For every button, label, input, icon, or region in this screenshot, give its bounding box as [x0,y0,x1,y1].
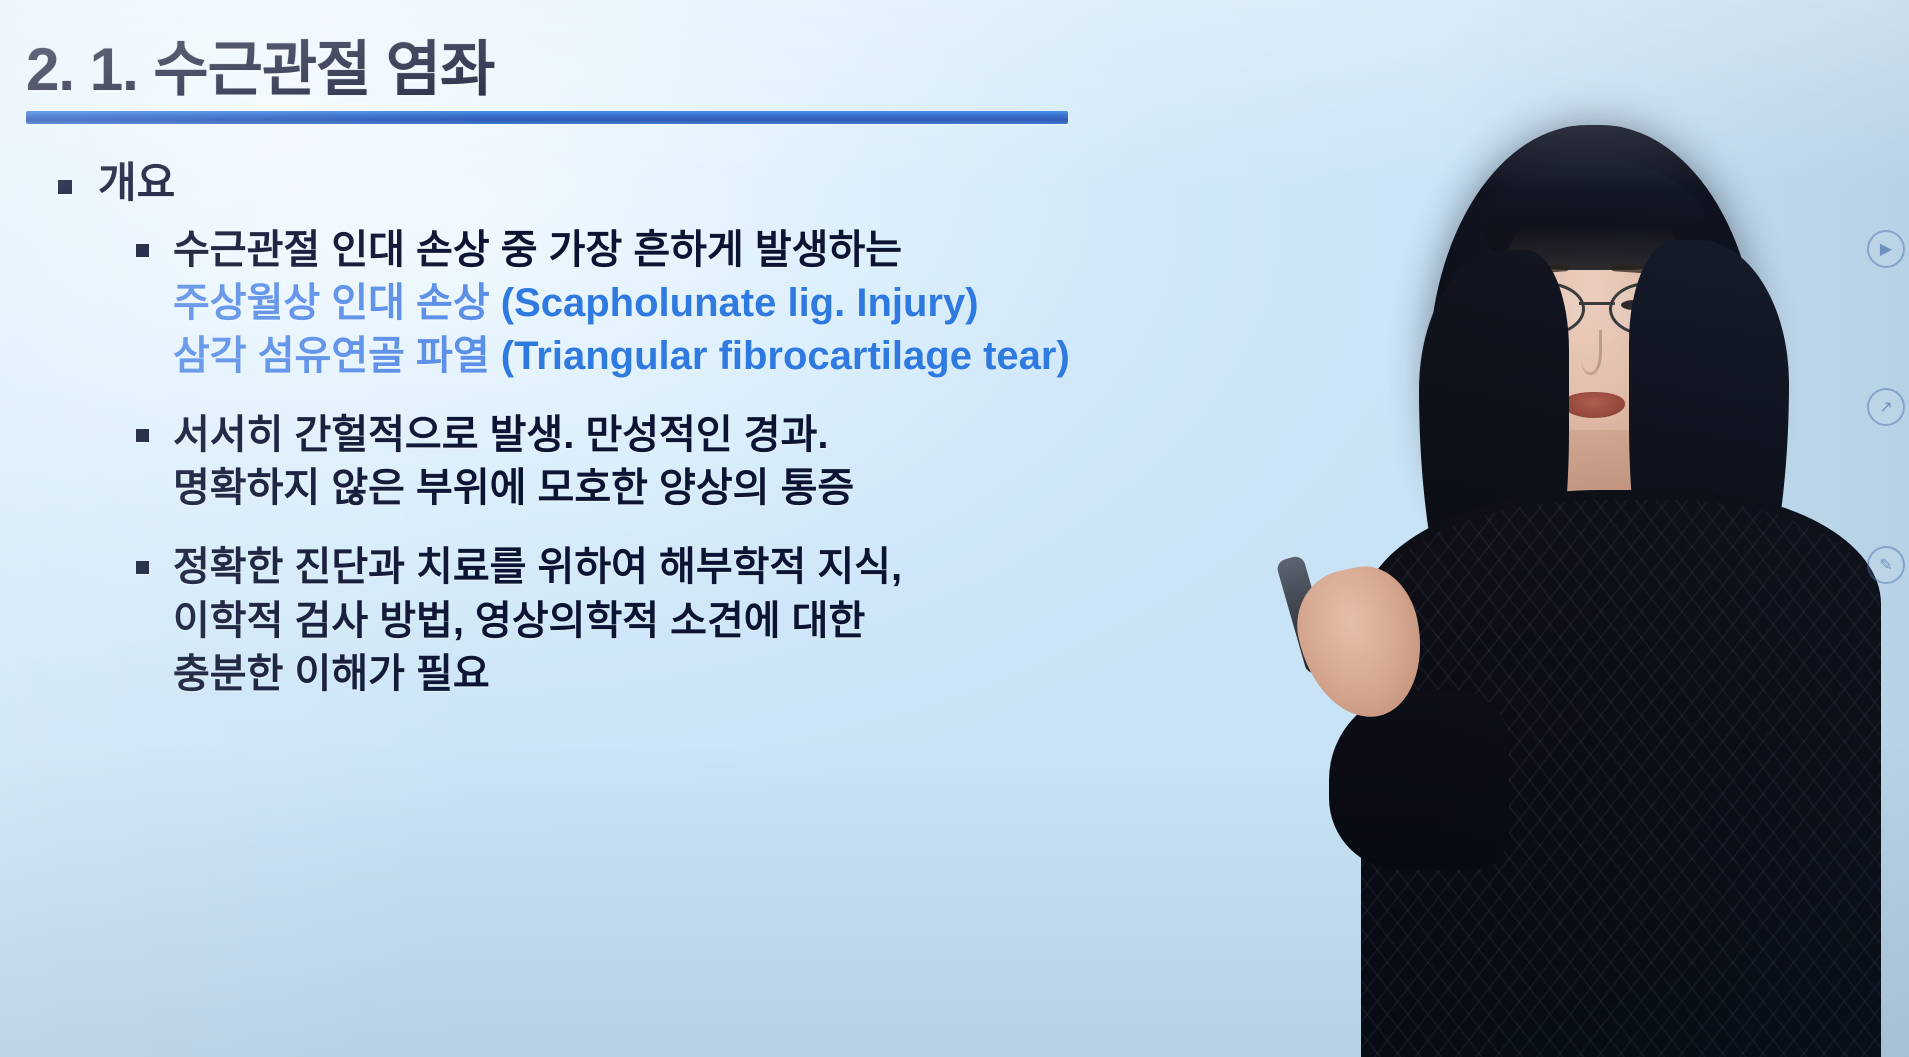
level2-bullet-text: 서서히 간헐적으로 발생. 만성적인 경과. 명확하지 않은 부위에 모호한 양… [173,409,854,515]
square-bullet-icon [58,180,72,194]
level2-bullet-text: 정확한 진단과 치료를 위하여 해부학적 지식, 이학적 검사 방법, 영상의학… [173,541,902,701]
text-segment-english-term: (Triangular fibrocartilage tear) [501,334,1070,378]
play-icon[interactable]: ▶ [1867,230,1905,268]
text-segment-korean-highlight: 주상월상 인대 손상 [173,281,501,325]
square-bullet-icon [136,244,149,257]
overlay-toolbar[interactable]: ▶ ↗ ✎ [1865,230,1907,584]
text-segment-korean-highlight: 삼각 섬유연골 파열 [173,334,501,378]
list-item: 수근관절 인대 손상 중 가장 흔하게 발생하는 주상월상 인대 손상 (Sca… [136,224,1286,384]
bullet-line: 주상월상 인대 손상 (Scapholunate lig. Injury) [173,277,1070,330]
level2-bullet-text: 수근관절 인대 손상 중 가장 흔하게 발생하는 주상월상 인대 손상 (Sca… [173,224,1070,384]
text-segment-english-term: (Scapholunate lig. Injury) [501,281,979,325]
square-bullet-icon [136,561,149,574]
bullet-line: 수근관절 인대 손상 중 가장 흔하게 발생하는 [173,224,1070,277]
text-segment: 수근관절 인대 손상 중 가장 흔하게 발생하는 [173,228,902,272]
text-segment: 이학적 검사 방법, 영상의학적 소견에 대한 [173,599,865,643]
pen-icon[interactable]: ✎ [1867,546,1905,584]
level1-bullet-label: 개요 [98,158,175,208]
text-segment: 서서히 간헐적으로 발생. 만성적인 경과. [173,413,828,457]
bullet-line: 정확한 진단과 치료를 위하여 해부학적 지식, [173,541,902,594]
title-underline-rule [26,111,1068,124]
list-item: 정확한 진단과 치료를 위하여 해부학적 지식, 이학적 검사 방법, 영상의학… [136,541,1286,701]
level2-bullet-list: 수근관절 인대 손상 중 가장 흔하게 발생하는 주상월상 인대 손상 (Sca… [136,224,1286,702]
title-block: 2. 1. 수근관절 염좌 [26,38,1326,124]
pointer-icon[interactable]: ↗ [1867,388,1905,426]
slide-body: 개요 수근관절 인대 손상 중 가장 흔하게 발생하는 주상월상 인대 손상 (… [26,150,1286,727]
square-bullet-icon [136,429,149,442]
lecture-slide-screenshot: 2. 1. 수근관절 염좌 개요 수근관절 인대 손상 중 가장 흔하게 발생하… [0,0,1909,1057]
slide-title: 2. 1. 수근관절 염좌 [26,38,1326,101]
text-segment: 명확하지 않은 부위에 모호한 양상의 통증 [173,466,854,510]
bullet-line: 삼각 섬유연골 파열 (Triangular fibrocartilage te… [173,330,1070,383]
bullet-line: 이학적 검사 방법, 영상의학적 소견에 대한 [173,595,902,648]
text-segment: 충분한 이해가 필요 [173,652,490,696]
bullet-line: 서서히 간헐적으로 발생. 만성적인 경과. [173,409,854,462]
text-segment: 정확한 진단과 치료를 위하여 해부학적 지식, [173,545,902,589]
bullet-line: 명확하지 않은 부위에 모호한 양상의 통증 [173,462,854,515]
level1-bullet-overview: 개요 [58,158,1286,208]
bullet-line: 충분한 이해가 필요 [173,648,902,701]
list-item: 서서히 간헐적으로 발생. 만성적인 경과. 명확하지 않은 부위에 모호한 양… [136,409,1286,515]
